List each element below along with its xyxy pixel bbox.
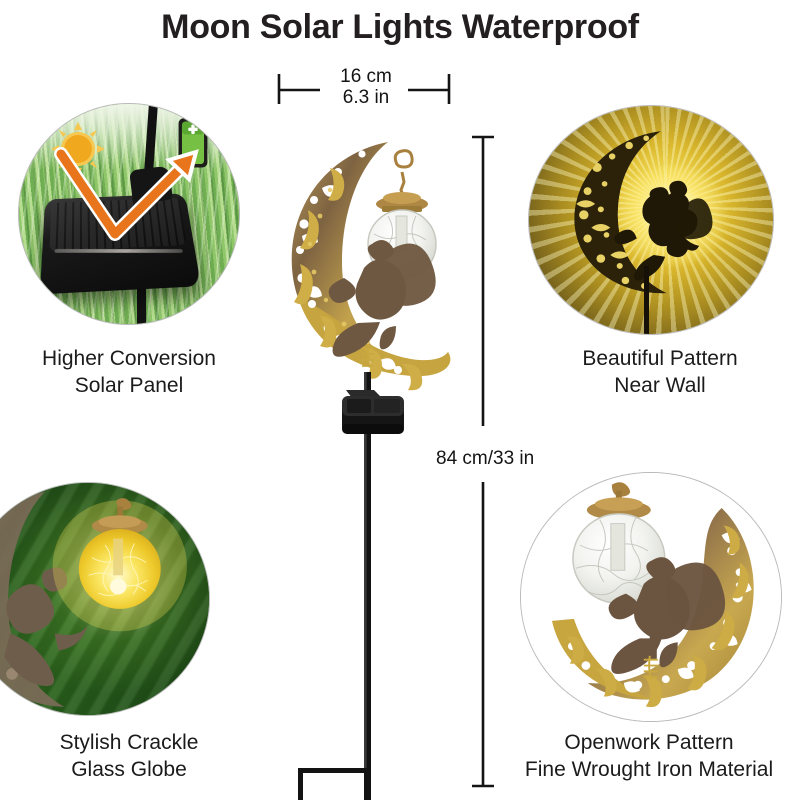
feature-photo-solar-panel-on-grass (18, 103, 240, 325)
caption-line-1: Openwork Pattern (564, 731, 733, 754)
width-imperial: 6.3 in (318, 87, 414, 108)
moon-fairy-product-detail (526, 475, 776, 718)
caption-line-1: Higher Conversion (42, 347, 216, 370)
caption-line-1: Stylish Crackle (60, 731, 199, 754)
feature-caption-bottom-left: Stylish Crackle Glass Globe (0, 730, 258, 783)
caption-line-2: Near Wall (520, 373, 800, 400)
feature-photo-openwork-detail (520, 472, 782, 722)
feature-caption-top-right: Beautiful Pattern Near Wall (520, 346, 800, 399)
caption-line-2: Fine Wrought Iron Material (498, 757, 800, 784)
stake-rod (644, 266, 649, 335)
feature-caption-top-left: Higher Conversion Solar Panel (0, 346, 258, 399)
feature-caption-bottom-right: Openwork Pattern Fine Wrought Iron Mater… (498, 730, 800, 783)
energy-flow-arrow-icon (53, 146, 203, 256)
feature-photo-lit-moon-projection (528, 105, 774, 335)
width-dimension-label: 16 cm 6.3 in (318, 66, 414, 109)
crackle-glass-globe (69, 497, 175, 641)
page-title: Moon Solar Lights Waterproof (0, 8, 800, 47)
infographic-page: Moon Solar Lights Waterproof (0, 0, 800, 800)
caption-line-1: Beautiful Pattern (582, 347, 737, 370)
caption-line-2: Glass Globe (0, 757, 258, 784)
caption-line-2: Solar Panel (0, 373, 258, 400)
lit-moon-fairy-silhouette (563, 120, 714, 302)
feature-photo-crackle-glass-globe (0, 482, 210, 716)
height-dimension-label: 84 cm/33 in (436, 448, 556, 470)
width-metric: 16 cm (318, 66, 414, 87)
